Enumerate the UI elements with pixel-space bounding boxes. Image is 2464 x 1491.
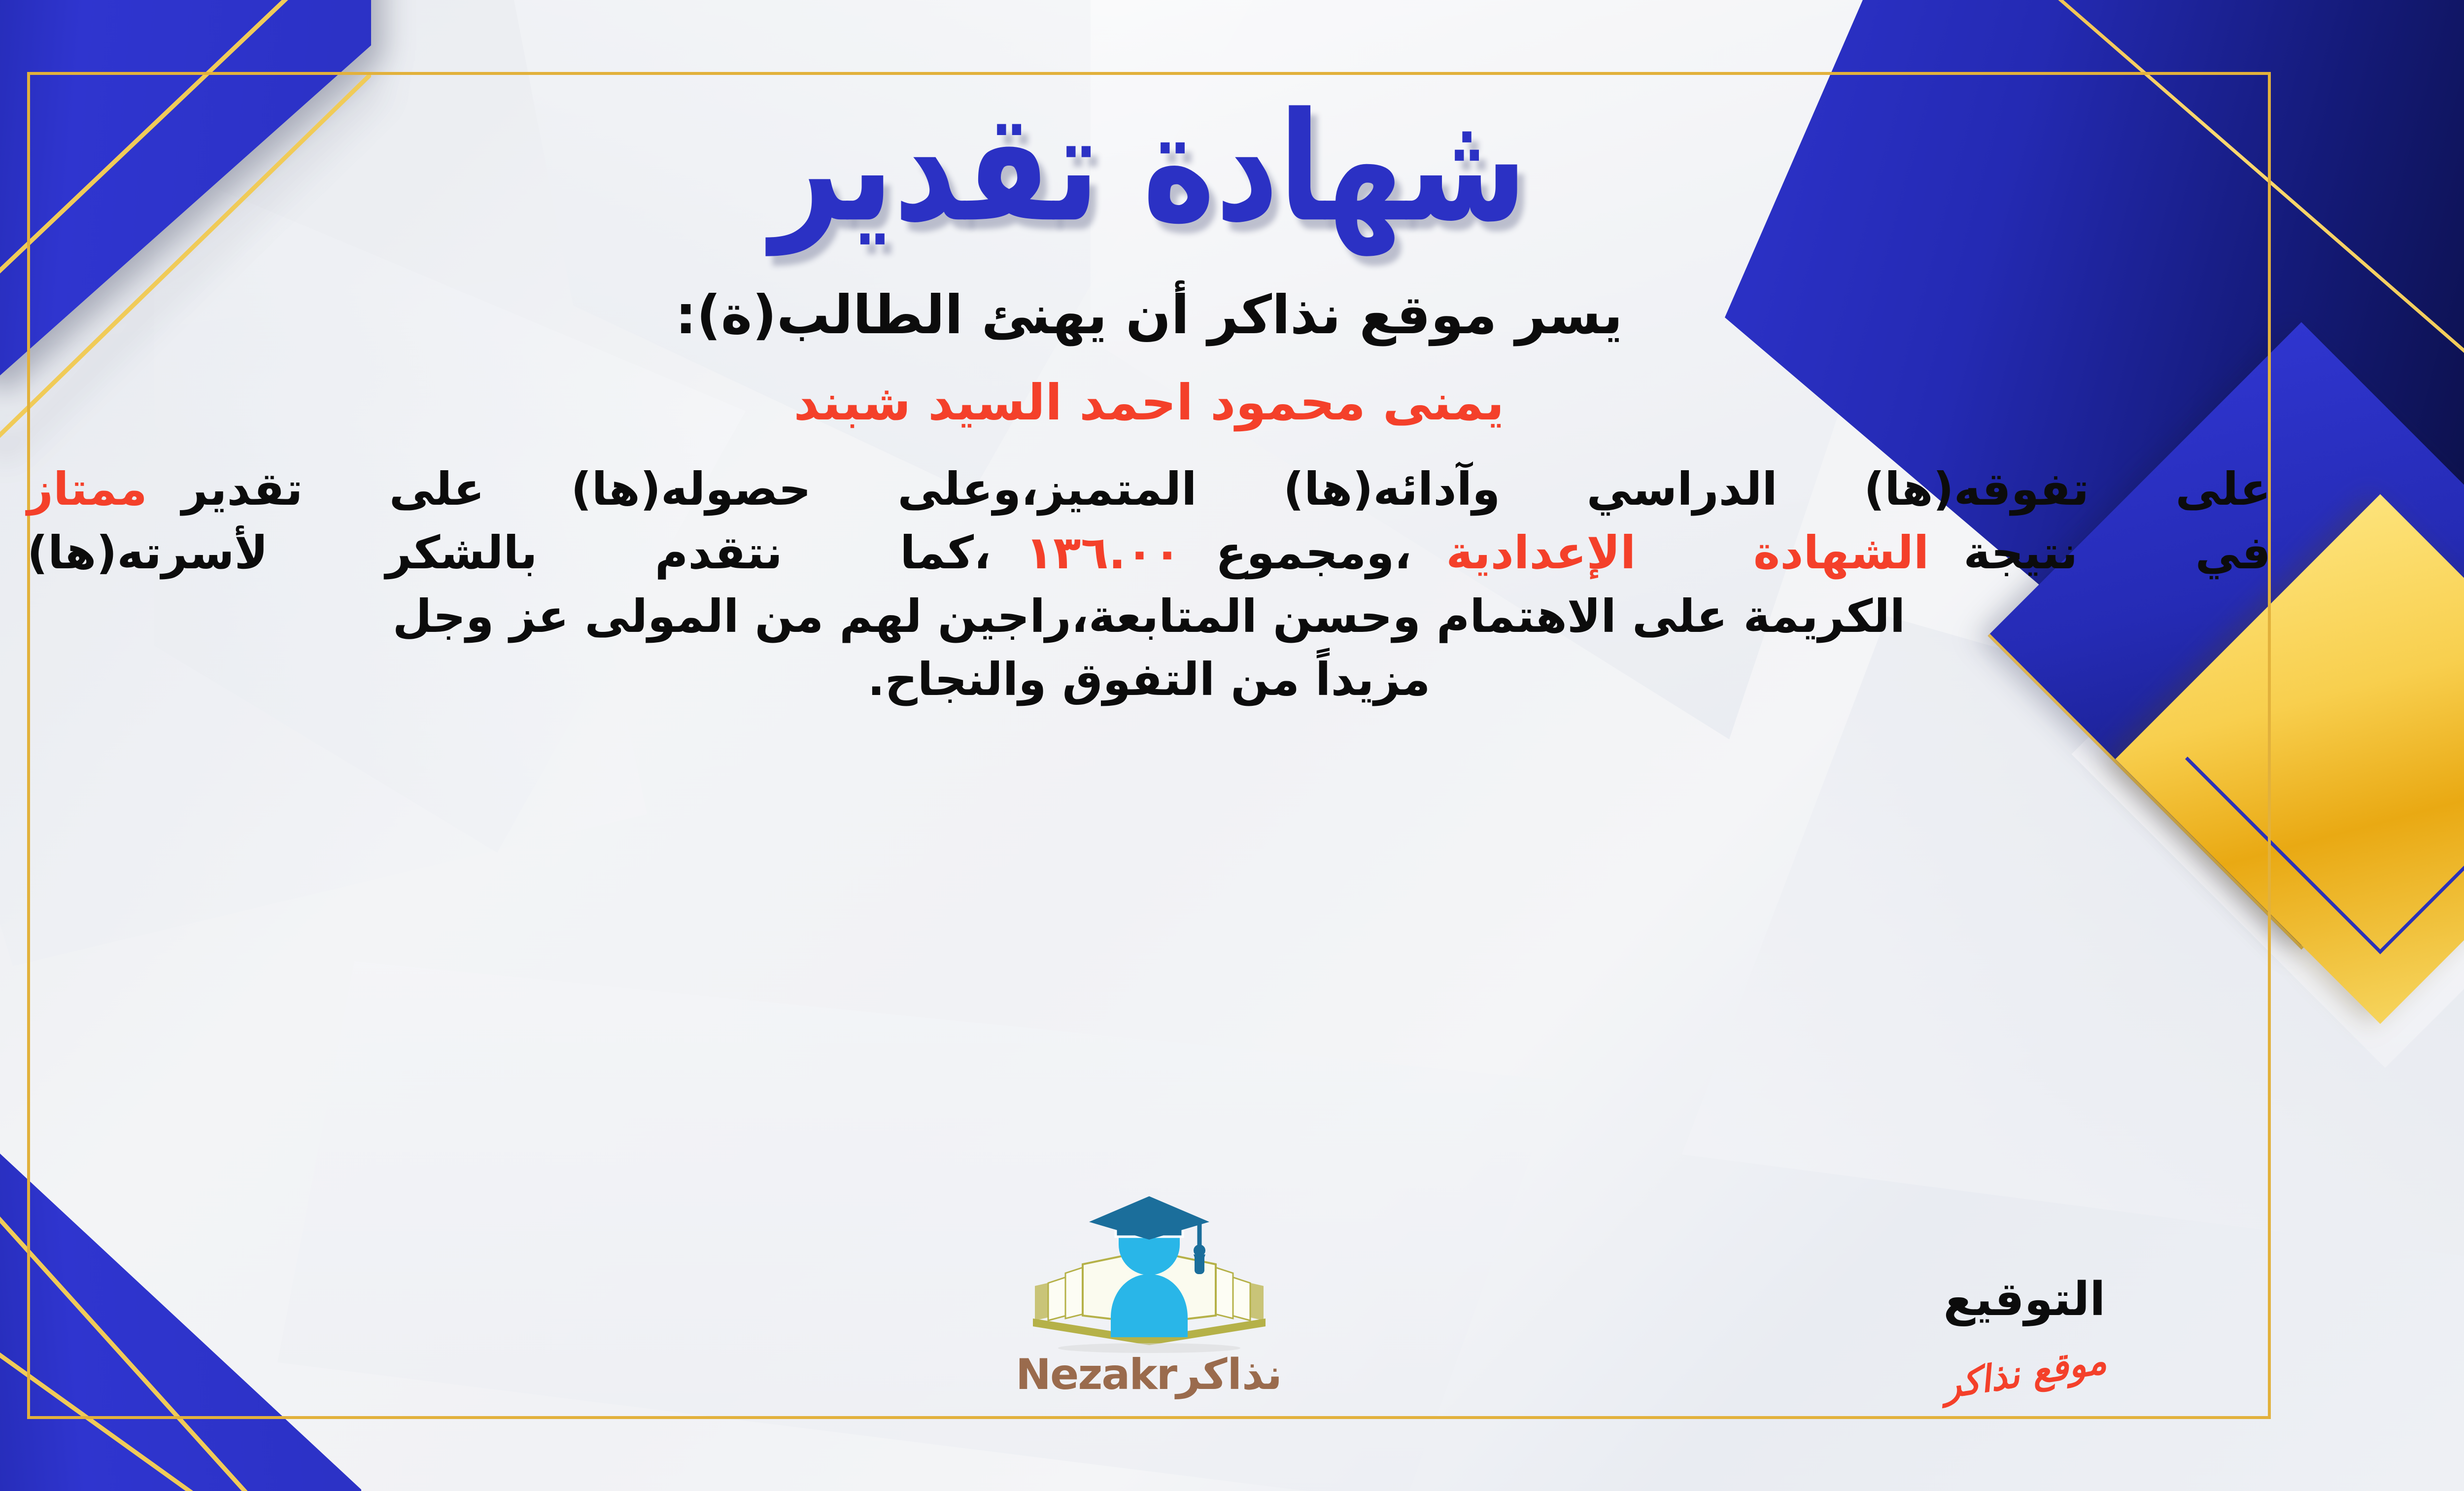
body-line-2-prefix: في نتيجة bbox=[1963, 526, 2271, 579]
certificate-canvas: شهادة تقدير يسر موقع نذاكر أن يهنئ الطال… bbox=[0, 0, 2464, 1491]
total-score-value: ١٣٦.٠٠ bbox=[1026, 526, 1181, 579]
body-line-1-text: على تفوقه(ها) الدراسي وآدائه(ها) المتميز… bbox=[182, 463, 2271, 516]
body-line-3: الكريمة على الاهتمام وحسن المتابعة،راجين… bbox=[27, 585, 2271, 649]
body-line-2-suffix: ،كما نتقدم بالشكر لأسرته(ها) bbox=[27, 526, 991, 579]
signature-label: التوقيع bbox=[1837, 1273, 2212, 1326]
signature-mark: موقع نذاكر bbox=[1940, 1339, 2109, 1407]
body-line-1: على تفوقه(ها) الدراسي وآدائه(ها) المتميز… bbox=[27, 458, 2271, 521]
grade-value: ممتاز bbox=[27, 463, 147, 516]
certificate-content: شهادة تقدير يسر موقع نذاكر أن يهنئ الطال… bbox=[27, 72, 2271, 1419]
student-name: يمنى محمود احمد السيد شبند bbox=[794, 374, 1505, 431]
graduate-book-logo-icon bbox=[1026, 1191, 1272, 1359]
logo-wordmark: نذاكرNezakr bbox=[972, 1350, 1327, 1399]
signature-block: التوقيع موقع نذاكر bbox=[1837, 1273, 2212, 1394]
certificate-footer: التوقيع موقع نذاكر bbox=[27, 1099, 2271, 1404]
nezakr-logo: نذاكرNezakr bbox=[972, 1191, 1327, 1399]
exam-name-value: الشهادة الإعدادية bbox=[1446, 526, 1929, 579]
body-line-2: في نتيجةالشهادة الإعدادية،ومجموع١٣٦.٠٠،ك… bbox=[27, 521, 2271, 585]
body-line-4: مزيداً من التفوق والنجاح. bbox=[27, 648, 2271, 712]
greeting-text: يسر موقع نذاكر أن يهنئ الطالب(ة): bbox=[675, 284, 1623, 346]
body-line-2-mid: ،ومجموع bbox=[1216, 526, 1412, 579]
certificate-body: على تفوقه(ها) الدراسي وآدائه(ها) المتميز… bbox=[27, 458, 2271, 712]
certificate-title: شهادة تقدير bbox=[771, 85, 1527, 250]
